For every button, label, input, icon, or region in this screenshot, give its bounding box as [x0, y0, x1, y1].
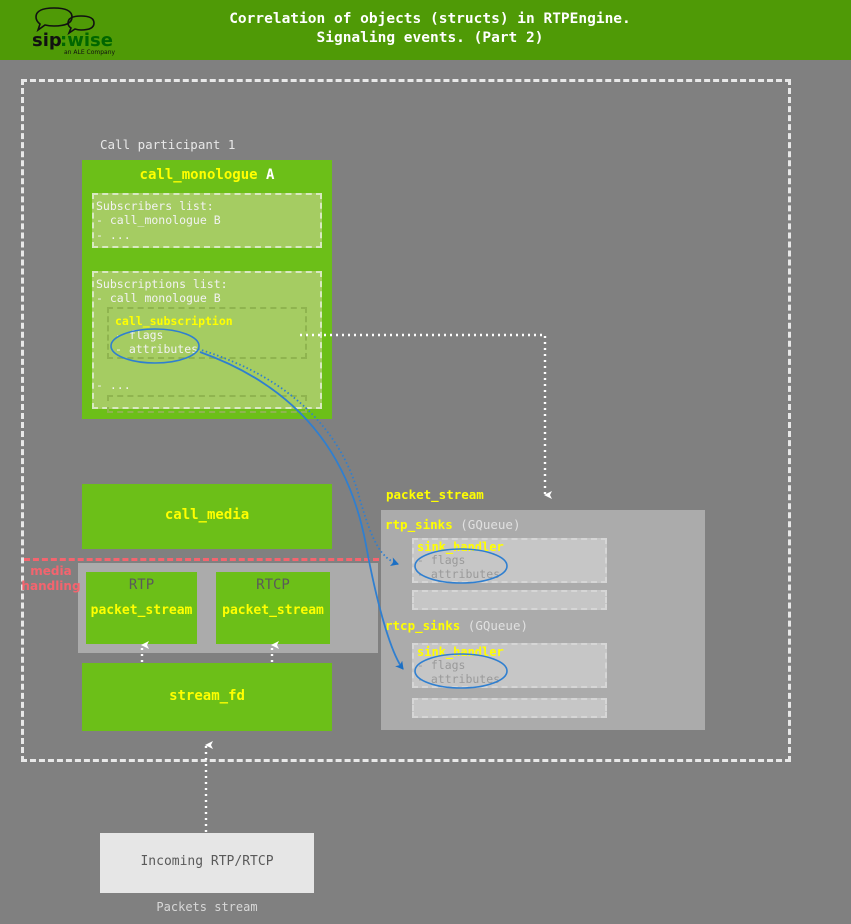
call-subscription-empty-box: [107, 395, 307, 413]
subscriptions-heading: Subscriptions list:: [96, 277, 228, 292]
call-subscription-field-0: - flags: [115, 328, 163, 343]
stream-fd-title: stream_fd: [82, 688, 332, 704]
logo-tagline: an ALE Company: [64, 49, 116, 56]
rtp-sink-empty-slot: [412, 590, 607, 610]
rtcp-sinks-name: rtcp_sinks: [385, 618, 460, 633]
title-line-1: Correlation of objects (structs) in RTPE…: [229, 11, 631, 27]
sipwise-logo: sip :wise an ALE Company: [24, 3, 134, 57]
call-monologue-title: call_monologue A: [82, 167, 332, 183]
rtp-sinks-type: (GQueue): [460, 517, 520, 532]
svg-text:sip: sip: [32, 30, 62, 51]
incoming-rtp-rtcp-box: Incoming RTP/RTCP: [100, 833, 314, 893]
rtcp-sink-empty-slot: [412, 698, 607, 718]
rtcp-struct-label: packet_stream: [216, 603, 330, 618]
media-handling-label: mediahandling: [20, 564, 82, 594]
stream-fd-box[interactable]: stream_fd: [82, 663, 332, 731]
rtp-sinks-label: rtp_sinks (GQueue): [385, 517, 520, 532]
title-line-2: Signaling events. (Part 2): [317, 30, 544, 46]
call-monologue-suffix: A: [266, 167, 274, 183]
packet-stream-panel-label: packet_stream: [386, 487, 484, 502]
call-media-box[interactable]: call_media: [82, 484, 332, 549]
svg-text::wise: :wise: [60, 30, 113, 51]
subscribers-heading: Subscribers list:: [96, 199, 214, 214]
rtcp-packet-stream-box[interactable]: RTCP packet_stream: [216, 572, 330, 644]
rtp-sinks-name: rtp_sinks: [385, 517, 453, 532]
rtcp-sink-handler-title: sink_handler: [417, 645, 504, 659]
call-monologue-name: call_monologue: [140, 167, 258, 183]
app-header: sip :wise an ALE Company Correlation of …: [0, 0, 851, 60]
rtp-sink-handler-title: sink_handler: [417, 540, 504, 554]
call-subscription-title: call_subscription: [115, 314, 233, 329]
subscriptions-item-1: - ...: [96, 378, 131, 393]
rtp-sink-handler-field-1: - attributes: [417, 567, 500, 582]
media-handling-line-2: handling: [21, 579, 80, 593]
logo-graphic: sip :wise an ALE Company: [24, 3, 134, 57]
subscribers-item-1: - ...: [96, 228, 131, 243]
rtp-struct-label: packet_stream: [86, 603, 197, 618]
rtp-kind-label: RTP: [86, 577, 197, 593]
media-handling-divider: [24, 558, 379, 561]
rtcp-sink-handler-field-1: - attributes: [417, 672, 500, 687]
rtcp-sink-handler-field-0: - flags: [417, 658, 465, 673]
rtp-sink-handler-field-0: - flags: [417, 553, 465, 568]
subscriptions-item-0: - call monologue B: [96, 291, 221, 306]
call-media-title: call_media: [82, 507, 332, 523]
media-handling-line-1: media: [30, 564, 71, 578]
rtcp-sinks-label: rtcp_sinks (GQueue): [385, 618, 528, 633]
page-title: Correlation of objects (structs) in RTPE…: [150, 10, 710, 48]
call-participant-label: Call participant 1: [100, 137, 235, 152]
incoming-rtp-rtcp-label: Incoming RTP/RTCP: [100, 854, 314, 869]
packets-stream-caption: Packets stream: [100, 900, 314, 914]
rtcp-kind-label: RTCP: [216, 577, 330, 593]
subscribers-item-0: - call_monologue B: [96, 213, 221, 228]
rtcp-sinks-type: (GQueue): [468, 618, 528, 633]
rtp-packet-stream-box[interactable]: RTP packet_stream: [86, 572, 197, 644]
call-subscription-field-1: - attributes: [115, 342, 198, 357]
